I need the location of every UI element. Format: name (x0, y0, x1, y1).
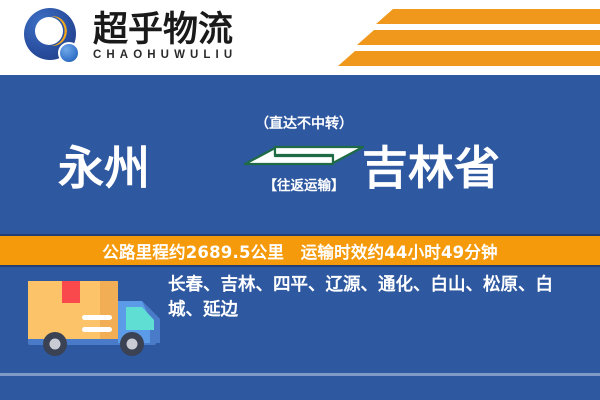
logo-crescent-shape (39, 16, 67, 46)
brand-logo-group: 超乎物流 CHAOHUWULIU (22, 6, 237, 68)
main-blue-panel: 永州 （直达不中转） 【往返运输】 吉林省 公路里程约2689.5公里 运输时效… (0, 75, 600, 400)
delivery-truck-icon (26, 275, 164, 359)
stripe-1 (376, 9, 600, 24)
header-stripes-decoration (338, 6, 600, 68)
roundtrip-note: 【往返运输】 (243, 179, 365, 194)
brand-name-pinyin: CHAOHUWULIU (93, 49, 237, 62)
bidirectional-arrow-icon (243, 138, 365, 172)
route-row: 永州 （直达不中转） 【往返运输】 吉林省 (0, 103, 600, 233)
logo-dot-shape (58, 42, 80, 64)
circle-crescent-logo-icon (22, 6, 84, 68)
logistics-route-banner: 超乎物流 CHAOHUWULIU 永州 （直达不中转） (0, 0, 600, 400)
coverage-cities-text: 长春、吉林、四平、辽源、通化、白山、松原、白城、延边 (168, 273, 580, 324)
origin-city: 永州 (58, 145, 150, 191)
coverage-row: 长春、吉林、四平、辽源、通化、白山、松原、白城、延边 (0, 271, 600, 361)
brand-name-chinese: 超乎物流 (93, 12, 237, 48)
stripe-3 (338, 51, 600, 66)
footer-divider-line (0, 373, 600, 376)
route-middle-block: （直达不中转） 【往返运输】 (243, 117, 365, 194)
stripe-2 (357, 30, 600, 45)
distance-duration-bar: 公路里程约2689.5公里 运输时效约44小时49分钟 (0, 234, 600, 267)
destination-city: 吉林省 (362, 145, 500, 191)
direct-shipping-note: （直达不中转） (243, 117, 365, 132)
distance-duration-text: 公路里程约2689.5公里 运输时效约44小时49分钟 (102, 239, 498, 263)
brand-name-block: 超乎物流 CHAOHUWULIU (93, 12, 237, 63)
banner-header: 超乎物流 CHAOHUWULIU (0, 0, 600, 75)
